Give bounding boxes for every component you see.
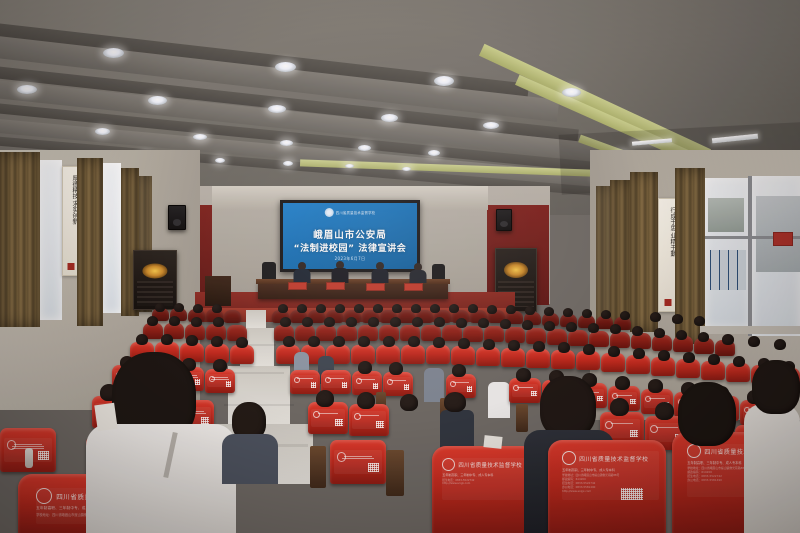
audience-head xyxy=(433,337,445,348)
audience-head xyxy=(444,392,466,412)
audience-head xyxy=(316,304,326,313)
audience-head xyxy=(468,304,478,313)
screen-title-line2: “法制进校园” 法律宣讲会 xyxy=(283,241,417,254)
person-body xyxy=(410,270,427,283)
seat-qr-icon xyxy=(368,463,378,473)
audience-head xyxy=(733,356,745,367)
left-banner[interactable] xyxy=(133,250,177,310)
audience-head xyxy=(389,362,403,375)
seat-logo-icon xyxy=(294,377,300,383)
audience-head xyxy=(358,336,370,347)
audience-head xyxy=(174,303,184,312)
audience-head xyxy=(136,334,148,345)
downlight xyxy=(434,76,454,86)
left-speaker xyxy=(168,205,186,230)
audience-head xyxy=(722,334,734,345)
center-aisle xyxy=(246,310,266,330)
podium xyxy=(205,276,231,306)
audience-head xyxy=(316,390,334,407)
student-shirt xyxy=(222,434,278,484)
audience-head xyxy=(774,339,786,350)
audience-head xyxy=(161,334,173,345)
stage-person xyxy=(292,262,312,282)
audience-head xyxy=(333,336,345,347)
audience-head xyxy=(191,317,202,327)
seat-site: http://www.scqjx.com xyxy=(442,482,527,485)
audience-head xyxy=(390,317,401,327)
audience-head xyxy=(648,379,663,393)
audience-head xyxy=(408,336,420,347)
aisle-step xyxy=(232,372,284,374)
downlight xyxy=(345,164,354,168)
audience-head xyxy=(358,361,372,374)
seat-print xyxy=(292,375,317,388)
audience-head xyxy=(658,350,670,361)
police-emblem-icon xyxy=(504,262,528,278)
audience-head xyxy=(608,346,620,357)
seat-qr-icon xyxy=(467,386,473,391)
foreground-student-shirt xyxy=(744,404,800,533)
audience-head xyxy=(483,339,495,350)
audience-head xyxy=(633,348,645,359)
seat[interactable] xyxy=(330,440,386,484)
seat-armrest xyxy=(310,446,326,488)
left-curtain-2 xyxy=(77,158,103,326)
seat-qr-icon xyxy=(342,382,348,387)
seat-logo-icon xyxy=(209,376,215,382)
audience-head xyxy=(383,336,395,347)
audience-head xyxy=(525,306,535,315)
stage-person xyxy=(330,261,350,282)
seat[interactable] xyxy=(205,369,235,393)
audience-head xyxy=(449,304,459,313)
seat-logo-icon xyxy=(650,425,658,433)
seat-logo-icon xyxy=(687,444,701,458)
foreground-student-head xyxy=(752,360,800,414)
seat-site: http://www.scqjx.com xyxy=(562,489,659,493)
audience-head xyxy=(354,304,364,313)
left-scroll-seal xyxy=(67,263,74,270)
audience-head xyxy=(508,340,520,351)
audience-head xyxy=(412,317,423,327)
audience-head xyxy=(672,314,683,324)
audience-head xyxy=(500,319,511,329)
seat-qr-icon xyxy=(630,399,636,405)
water-bottle xyxy=(25,448,33,468)
right-scroll-seal xyxy=(664,299,671,306)
seat-sub-text: 五年制高职、三年制中专、成人专本科 xyxy=(562,467,659,472)
audience-head xyxy=(283,336,295,347)
audience-head xyxy=(544,307,554,316)
audience-head xyxy=(452,364,466,377)
seat-qr-icon xyxy=(195,379,201,384)
screen-title-line1: 峨眉山市公安局 xyxy=(283,227,417,241)
audience-head xyxy=(458,338,470,349)
seat-logo-icon xyxy=(7,440,17,450)
seat-logo-icon xyxy=(356,378,362,384)
audience-head xyxy=(610,398,629,416)
audience-head xyxy=(430,304,440,313)
audience-head xyxy=(516,368,531,382)
seat-qr-icon xyxy=(597,396,603,402)
name-placard xyxy=(288,282,307,290)
seat-logo-icon xyxy=(325,377,331,383)
audience-head xyxy=(566,322,577,332)
seat-qr-icon xyxy=(531,391,537,397)
audience-head xyxy=(583,344,595,355)
left-window-2 xyxy=(103,163,121,313)
audience-head xyxy=(620,311,630,320)
downlight xyxy=(283,161,293,166)
seat-logo-icon xyxy=(313,411,320,419)
stage-chair xyxy=(432,264,445,279)
audience-head xyxy=(650,312,661,322)
audience-head xyxy=(392,304,402,313)
audience-head xyxy=(297,304,307,313)
audience-head xyxy=(676,330,687,340)
seat-print xyxy=(207,374,232,387)
person-body xyxy=(294,269,311,283)
seat-print-foreground: 四川省质量技术监督学校 五年制高职、三年制中专、成人专本科 学校地址：四川省峨眉… xyxy=(562,451,659,499)
audience-head xyxy=(411,304,421,313)
foreground-student-head xyxy=(678,382,736,446)
seat-sub-text: 五年制高职、三年制中专、成人专本科 xyxy=(442,473,527,477)
audience-head xyxy=(434,317,445,327)
audience-head xyxy=(308,336,320,347)
seat-print xyxy=(323,375,348,388)
person-body xyxy=(372,269,389,283)
downlight xyxy=(148,96,167,105)
audience-head xyxy=(683,352,695,363)
person-body xyxy=(332,268,349,283)
seat-qr-icon xyxy=(373,383,379,388)
downlight xyxy=(103,48,124,58)
left-window-1 xyxy=(40,160,62,320)
seat-logo-icon xyxy=(36,488,52,504)
right-curtain-3 xyxy=(630,172,658,332)
downlight xyxy=(215,158,225,163)
audience-head xyxy=(280,317,291,327)
audience-head xyxy=(632,326,643,336)
downlight xyxy=(402,167,411,171)
audience-head xyxy=(654,328,665,338)
exterior-window-grid xyxy=(710,250,746,290)
audience-head xyxy=(558,342,570,353)
audience-head xyxy=(169,316,180,326)
window-sill xyxy=(700,326,800,334)
audience-head xyxy=(212,304,222,313)
audience-head xyxy=(368,317,379,327)
name-placard xyxy=(326,282,345,290)
downlight xyxy=(193,134,207,140)
seat-logo-icon xyxy=(442,458,455,471)
audience-head xyxy=(544,321,555,331)
downlight xyxy=(381,114,398,122)
audience-head xyxy=(708,354,720,365)
audience-head xyxy=(533,341,545,352)
audience-head xyxy=(610,324,621,334)
seat-print xyxy=(334,450,381,474)
police-emblem-icon xyxy=(142,263,167,278)
audience-head xyxy=(236,337,248,348)
audience-head xyxy=(211,336,223,347)
seat[interactable] xyxy=(568,330,588,346)
stage-person xyxy=(408,263,428,283)
audience-head xyxy=(346,317,357,327)
audience-head xyxy=(478,318,489,328)
seat-print-foreground: 四川省质量技术监督学校 五年制高职、三年制中专、成人专本科 招生电话：0833-… xyxy=(442,458,527,500)
audience-head xyxy=(335,304,345,313)
seat-qr-icon xyxy=(404,384,410,389)
paper-sheet xyxy=(94,403,117,432)
seat-logo-icon xyxy=(605,421,613,429)
seat-print xyxy=(352,411,386,429)
audience-head xyxy=(278,304,288,313)
audience-head xyxy=(213,317,224,327)
audience-head xyxy=(400,394,418,411)
downlight xyxy=(268,105,286,113)
seat-qr-icon xyxy=(630,430,638,437)
audience-head xyxy=(193,304,203,313)
stage-person xyxy=(370,262,390,282)
audience-head xyxy=(694,316,705,326)
downlight xyxy=(483,122,499,129)
audience-head xyxy=(506,305,516,314)
audience-head xyxy=(582,309,592,318)
seat-qr-icon xyxy=(226,381,232,386)
seat-logo-icon xyxy=(450,381,456,387)
audience-head xyxy=(213,359,227,372)
seat-print xyxy=(448,379,473,392)
audience-head xyxy=(698,332,709,342)
audience-head xyxy=(456,318,467,328)
right-curtain-1 xyxy=(596,186,610,326)
seat-qr-icon xyxy=(335,419,342,426)
seat-logo-icon xyxy=(354,413,361,421)
audience-head xyxy=(357,392,375,409)
downlight xyxy=(95,128,110,135)
paper-sheet xyxy=(483,435,502,449)
downlight xyxy=(17,85,37,94)
audience-head xyxy=(324,317,335,327)
seat-qr-icon xyxy=(376,421,383,428)
seat-school-name: 四川省质量技术监督学校 xyxy=(458,461,522,469)
seat-print xyxy=(385,377,410,390)
audience-head xyxy=(302,317,313,327)
seat-school-name: 四川省质量技术监督学校 xyxy=(579,454,648,463)
logo-text: 四川省质量技术监督学校 xyxy=(336,211,376,215)
right-curtain-2 xyxy=(610,180,630,330)
audience-head xyxy=(601,310,611,319)
seat-logo-icon xyxy=(562,451,576,465)
audience-head xyxy=(522,320,533,330)
left-curtain-1 xyxy=(0,152,40,327)
seat[interactable] xyxy=(224,310,241,323)
logo-mark-icon xyxy=(325,208,334,217)
seat-armrest xyxy=(516,404,528,432)
audience-head xyxy=(615,376,630,390)
seat-qr-icon xyxy=(311,382,317,387)
seat-print xyxy=(311,409,345,427)
foreground-student-head xyxy=(540,376,596,438)
photo-scene: 厚德精技 求实创新 行成于思 业精于勤 四川省质量技术监督学校 峨眉山市公安局 … xyxy=(0,0,800,533)
seat[interactable] xyxy=(383,372,413,396)
foreground-seat[interactable]: 四川省质量技术监督学校 五年制高职、三年制中专、成人专本科 学校地址：四川省峨眉… xyxy=(548,440,666,533)
name-placard xyxy=(366,283,385,291)
seat-print xyxy=(354,376,379,389)
foreground-seat[interactable]: 四川省质量技术监督学校 五年制高职、三年制中专、成人专本科 招生电话：0833-… xyxy=(432,446,536,533)
audience-head xyxy=(588,323,599,333)
seat-qr-icon xyxy=(621,488,643,500)
audience-head xyxy=(373,304,383,313)
seat-qr-icon xyxy=(38,451,48,461)
foreground-student-shirt xyxy=(86,424,236,533)
right-speaker xyxy=(496,209,512,231)
audience-head xyxy=(186,335,198,346)
downlight xyxy=(280,140,293,146)
seat-armrest xyxy=(386,450,404,496)
stage-chair xyxy=(262,262,276,279)
downlight xyxy=(275,62,296,72)
projection-screen[interactable]: 四川省质量技术监督学校 峨眉山市公安局 “法制进校园” 法律宣讲会 2023年6… xyxy=(283,203,417,269)
seat-print xyxy=(512,384,539,398)
audience-head xyxy=(655,402,674,420)
seat[interactable] xyxy=(401,345,425,364)
left-scroll-text: 厚德精技 求实创新 xyxy=(63,175,78,225)
exterior-wall-left xyxy=(708,198,744,232)
window-mullion xyxy=(748,176,752,336)
school-logo: 四川省质量技术监督学校 xyxy=(325,208,376,217)
right-scroll-text: 行成于思 业精于勤 xyxy=(659,207,676,257)
left-banner-rows xyxy=(137,281,174,305)
seat-logo-icon xyxy=(513,385,519,391)
exterior-sign xyxy=(773,232,793,246)
downlight xyxy=(562,88,581,97)
seat[interactable] xyxy=(290,370,320,394)
audience-head xyxy=(563,308,573,317)
audience-head xyxy=(155,303,165,312)
audience-head xyxy=(487,305,497,314)
audience-head xyxy=(748,336,760,347)
seat-qr-icon xyxy=(201,417,208,424)
seat-logo-icon xyxy=(387,379,393,385)
audience-head xyxy=(147,316,158,326)
name-placard xyxy=(404,283,423,291)
downlight xyxy=(428,150,440,156)
seat-logo-icon xyxy=(645,396,651,402)
seat-logo-icon xyxy=(337,452,347,462)
downlight xyxy=(358,145,371,151)
student-shirt xyxy=(488,382,510,418)
student-shirt xyxy=(424,368,444,402)
